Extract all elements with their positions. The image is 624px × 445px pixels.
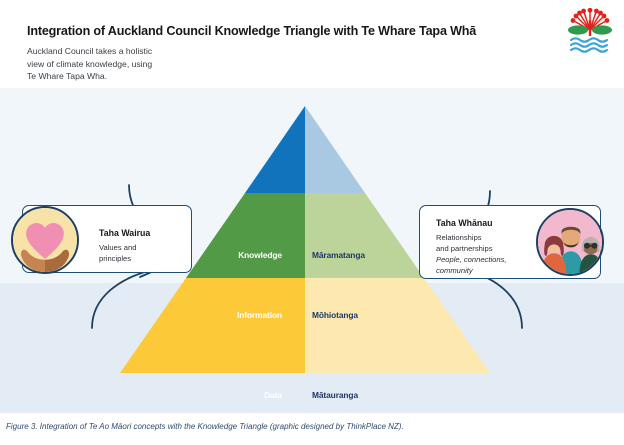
card-taha-whanau-body-italic: People, connections, community (436, 255, 507, 277)
header: Integration of Auckland Council Knowledg… (0, 0, 624, 88)
card-taha-whanau-title: Taha Whānau (436, 218, 493, 228)
pyramid-level-mohiotanga-right (305, 193, 424, 278)
pyramid-label-information: Information (176, 310, 282, 320)
figure-panel: Knowledge Māramatanga Information Mōhiot… (0, 88, 624, 413)
pyramid-level-matauranga-right (305, 278, 490, 373)
pyramid-label-data: Data (196, 390, 282, 400)
card-taha-wairua-body: Values and principles (99, 243, 136, 265)
pyramid-label-knowledge: Knowledge (196, 250, 282, 260)
family-group-icon (536, 208, 604, 276)
card-taha-whanau-body: Relationships and partnerships (436, 233, 493, 255)
card-taha-wairua-title: Taha Wairua (99, 228, 150, 238)
pyramid-label-maramatanga: Māramatanga (312, 250, 365, 260)
page-subtitle: Auckland Council takes a holistic view o… (27, 45, 152, 83)
pyramid-label-mohiotanga: Mōhiotanga (312, 310, 358, 320)
auckland-council-logo (566, 8, 614, 54)
pyramid-label-matauranga: Mātauranga (312, 390, 358, 400)
pyramid-level-data-left (120, 278, 305, 373)
page-title: Integration of Auckland Council Knowledg… (27, 24, 476, 38)
heart-in-hands-icon (11, 206, 79, 274)
pyramid-level-maramatanga-right (305, 106, 365, 193)
pyramid-level-information-left (186, 193, 305, 278)
figure-caption: Figure 3. Integration of Te Ao Māori con… (6, 422, 404, 431)
pyramid-level-knowledge-left (245, 106, 305, 193)
